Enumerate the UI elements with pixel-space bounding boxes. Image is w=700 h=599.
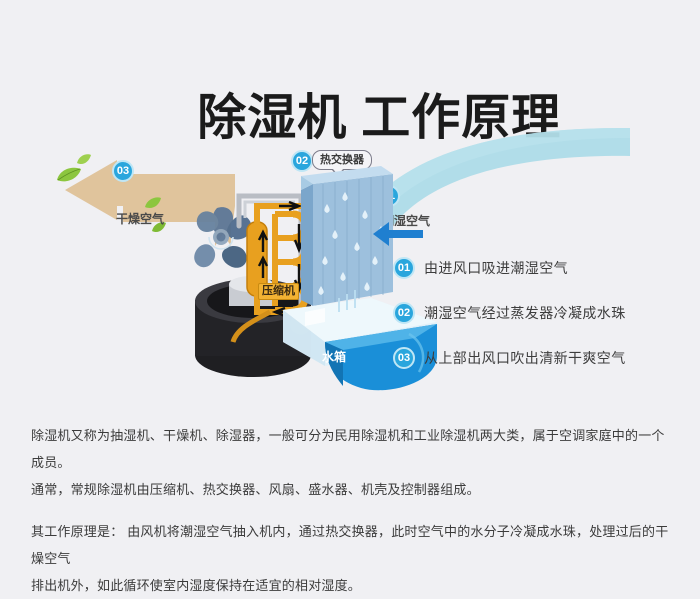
- paragraph-2-line-1: 其工作原理是： 由风机将潮湿空气抽入机内，通过热交换器，此时空气中的水分子冷凝成…: [31, 518, 676, 572]
- legend-badge-03: 03: [393, 347, 415, 369]
- body-copy: 除湿机又称为抽湿机、干燥机、除湿器，一般可分为民用除湿机和工业除湿机两大类，属于…: [31, 422, 676, 599]
- label-water-tank: 水箱: [322, 348, 346, 365]
- paragraph-spacer: [31, 503, 676, 518]
- legend-list: 01 由进风口吸进潮湿空气 02 潮湿空气经过蒸发器冷凝成水珠 03 从上部出风…: [393, 256, 683, 391]
- badge-dry-air: 03: [112, 160, 134, 182]
- leaf-icon: [56, 166, 82, 184]
- legend-badge-01: 01: [393, 257, 415, 279]
- paragraph-2-line-2: 排出机外，如此循环使室内湿度保持在适宜的相对湿度。: [31, 572, 676, 599]
- leaf-icon: [76, 153, 92, 166]
- title-part-1: 除湿机: [197, 91, 347, 145]
- legend-text-03: 从上部出风口吹出清新干爽空气: [424, 348, 626, 368]
- legend-item-02: 02 潮湿空气经过蒸发器冷凝成水珠: [393, 301, 683, 325]
- label-dry-air: 干燥空气: [116, 210, 164, 227]
- paragraph-1-line-1: 除湿机又称为抽湿机、干燥机、除湿器，一般可分为民用除湿机和工业除湿机两大类，属于…: [31, 422, 676, 476]
- legend-badge-02: 02: [393, 302, 415, 324]
- leaf-icon: [144, 196, 162, 210]
- label-compressor: 压缩机: [258, 283, 299, 300]
- legend-text-02: 潮湿空气经过蒸发器冷凝成水珠: [424, 303, 626, 323]
- legend-item-03: 03 从上部出风口吹出清新干爽空气: [393, 346, 683, 370]
- legend-item-01: 01 由进风口吸进潮湿空气: [393, 256, 683, 280]
- legend-text-01: 由进风口吸进潮湿空气: [424, 258, 568, 278]
- infographic-canvas: 除湿机工作原理 03 干燥空气 01 潮湿空气 02 热交换器: [0, 0, 700, 566]
- paragraph-1-line-2: 通常，常规除湿机由压缩机、热交换器、风扇、盛水器、机壳及控制器组成。: [31, 476, 676, 503]
